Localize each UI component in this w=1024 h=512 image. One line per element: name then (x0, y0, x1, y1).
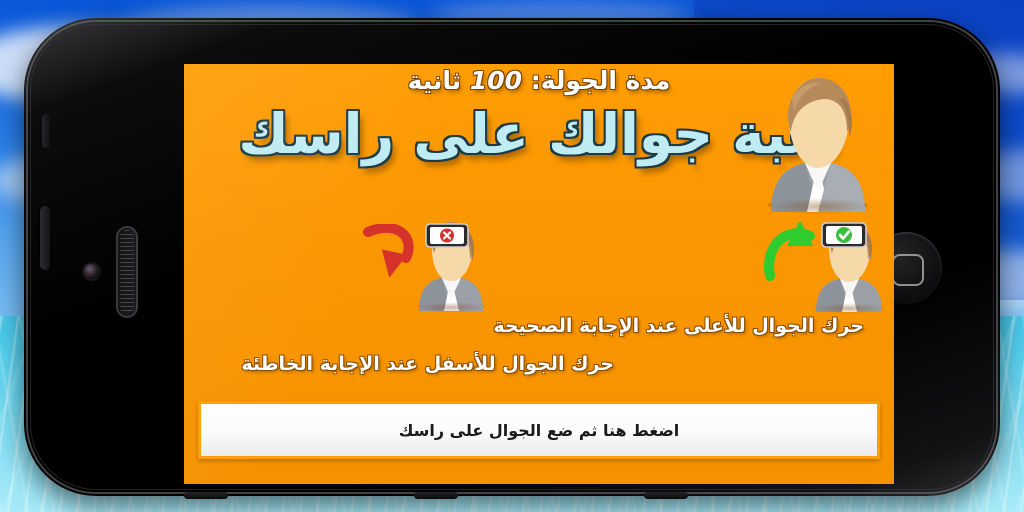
avatar-large-icon (759, 72, 877, 212)
instruction-wrong-text: حرك الجوال للأسفل عند الإجابة الخاطئة (241, 353, 614, 375)
avatar-shadow (418, 302, 485, 313)
front-camera-icon (84, 264, 99, 279)
bottom-port (414, 492, 458, 499)
phone-device: مدة الجولة: 100 ثانية لعبة جوالك على راس… (24, 18, 1000, 496)
avatar-shadow (815, 303, 884, 314)
side-button[interactable] (40, 206, 50, 270)
avatar-person-large (759, 72, 877, 212)
avatar-wrong-icon (412, 219, 490, 311)
round-duration-seconds: 100 (470, 66, 522, 95)
bottom-port (644, 492, 688, 499)
round-duration-prefix: مدة الجولة: (531, 66, 671, 95)
earpiece-speaker-icon (116, 226, 138, 318)
screenshot-root: مدة الجولة: 100 ثانية لعبة جوالك على راس… (0, 0, 1024, 512)
avatar-correct-icon (809, 218, 889, 312)
avatar-person-phone-correct (809, 218, 889, 312)
avatar-person-phone-wrong (412, 219, 490, 311)
bottom-port (184, 492, 228, 499)
avatar-shadow (768, 198, 869, 215)
app-screen: مدة الجولة: 100 ثانية لعبة جوالك على راس… (184, 64, 894, 484)
start-button[interactable]: اضغط هنا ثم ضع الجوال على راسك (198, 401, 880, 459)
side-button-secondary[interactable] (42, 114, 50, 148)
start-button-label: اضغط هنا ثم ضع الجوال على راسك (399, 421, 680, 440)
instruction-correct-text: حرك الجوال للأعلى عند الإجابة الصحيحة (493, 315, 864, 337)
home-button-square-icon (892, 254, 924, 286)
round-duration-suffix: ثانية (408, 66, 462, 95)
arrow-down-curved-icon (362, 224, 418, 286)
